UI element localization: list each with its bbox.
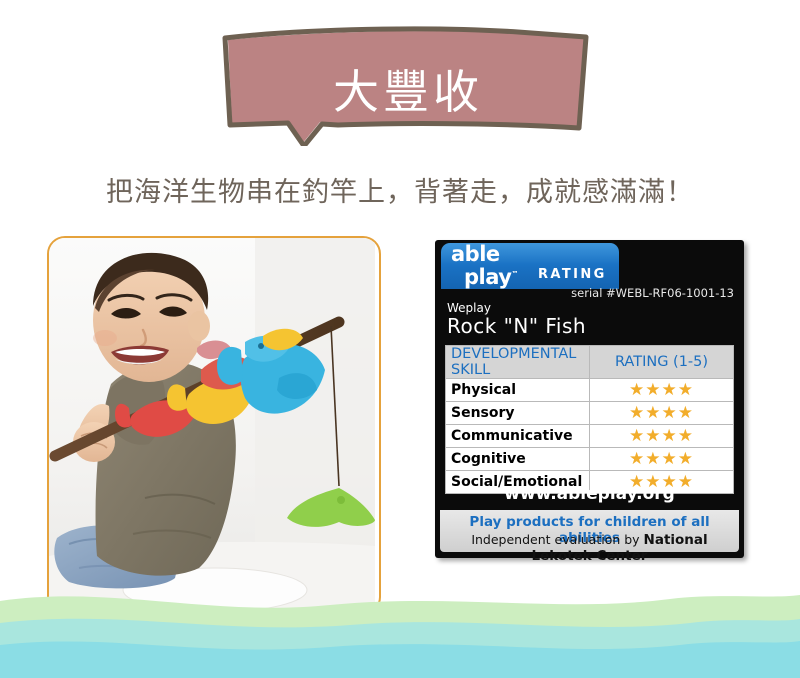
ableplay-logo-text: able play™	[451, 244, 518, 287]
wave-decoration	[0, 583, 800, 678]
rating-stars: ★★★★	[590, 448, 734, 471]
rating-stars: ★★★★	[590, 402, 734, 425]
skill-label: Cognitive	[446, 448, 590, 471]
logo-rating-word: RATING	[538, 267, 607, 282]
star-glyphs: ★★★★	[629, 426, 694, 445]
rating-stars: ★★★★	[590, 425, 734, 448]
rating-stars: ★★★★	[590, 379, 734, 402]
table-row: Sensory★★★★	[446, 402, 734, 425]
column-header-skill: DEVELOPMENTAL SKILL	[446, 346, 590, 379]
table-row: Physical★★★★	[446, 379, 734, 402]
brand-name: Weplay	[447, 301, 491, 315]
trademark-symbol: ™	[511, 270, 518, 278]
star-glyphs: ★★★★	[629, 449, 694, 468]
ableplay-url[interactable]: www.ableplay.org	[435, 484, 744, 504]
star-glyphs: ★★★★	[629, 380, 694, 399]
product-photo-frame	[47, 236, 381, 615]
product-photo	[49, 238, 375, 609]
table-row: Cognitive★★★★	[446, 448, 734, 471]
product-name: Rock "N" Fish	[447, 314, 586, 338]
serial-number: serial #WEBL-RF06-1001-13	[571, 286, 734, 300]
ableplay-rating-card: able play™ RATING serial #WEBL-RF06-1001…	[435, 240, 744, 558]
footer-evaluation-prefix: Independent evaluation by	[471, 532, 643, 547]
ableplay-logo: able play™ RATING	[441, 243, 619, 289]
title-banner: 大豐收	[216, 26, 596, 146]
developmental-skill-table: DEVELOPMENTAL SKILL RATING (1-5) Physica…	[445, 345, 734, 494]
card-footer: Play products for children of all abilit…	[440, 510, 739, 552]
wave-cyan	[0, 641, 800, 678]
footer-evaluation: Independent evaluation by National Lekot…	[440, 532, 739, 564]
column-header-rating: RATING (1-5)	[590, 346, 734, 379]
table-body: Physical★★★★Sensory★★★★Communicative★★★★…	[446, 379, 734, 494]
wave-shapes	[0, 583, 800, 678]
subtitle-text: 把海洋生物串在釣竿上，背著走，成就感滿滿！	[0, 176, 800, 210]
skill-label: Communicative	[446, 425, 590, 448]
logo-word-play: play™	[464, 264, 518, 287]
table-header-row: DEVELOPMENTAL SKILL RATING (1-5)	[446, 346, 734, 379]
star-glyphs: ★★★★	[629, 403, 694, 422]
skill-label: Physical	[446, 379, 590, 402]
skill-label: Sensory	[446, 402, 590, 425]
page-title: 大豐收	[216, 66, 596, 118]
table-row: Communicative★★★★	[446, 425, 734, 448]
logo-word-able: able	[451, 244, 518, 264]
